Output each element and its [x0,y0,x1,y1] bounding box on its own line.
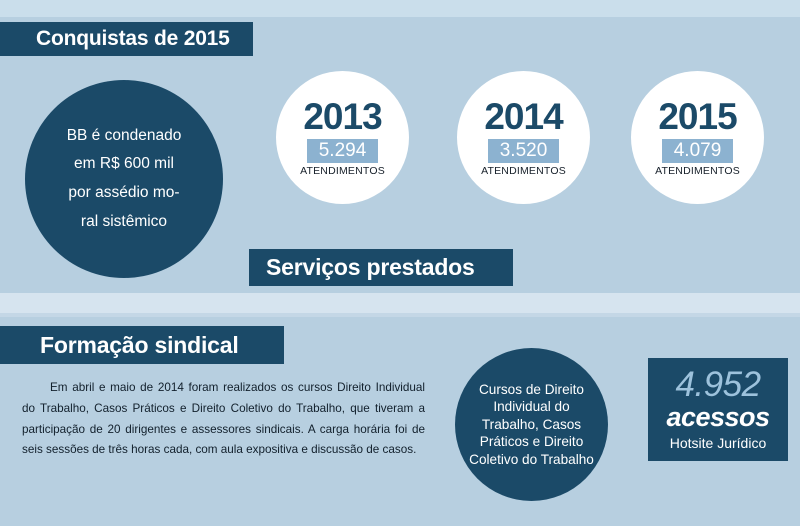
year-count-caption-2014: ATENDIMENTOS [481,165,566,177]
year-count-caption-2015: ATENDIMENTOS [655,165,740,177]
courses-circle-line-6: Trabalho [541,452,594,467]
background-band-middle-edge [0,313,800,317]
courses-circle-line-1: Cursos de Direito [479,382,584,397]
courses-circle-line-3: Trabalho, Casos [482,417,581,432]
section-title-servicos: Serviços prestados [249,249,513,286]
year-stat-circle-2013: 2013 5.294 ATENDIMENTOS [276,71,409,204]
courses-circle-line-2: Individual do [493,399,569,414]
section-title-formacao: Formação sindical [0,326,284,364]
highlight-circle-line-3: por assédio mo- [67,179,182,208]
year-count-2014: 3.520 [488,139,560,164]
year-stat-circle-2015: 2015 4.079 ATENDIMENTOS [631,71,764,204]
courses-circle-line-4: Práticos e Direito [480,434,584,449]
year-label-2013: 2013 [303,98,381,135]
highlight-circle-line-2: em R$ 600 mil [67,150,182,179]
formacao-paragraph: Em abril e maio de 2014 foram realizados… [22,378,425,461]
year-count-2013: 5.294 [307,139,379,164]
acessos-number: 4.952 [675,367,760,402]
courses-circle: Cursos de Direito Individual do Trabalho… [455,348,608,501]
acessos-stat-box: 4.952 acessos Hotsite Jurídico [648,358,788,461]
year-count-2015: 4.079 [662,139,734,164]
acessos-subtitle: Hotsite Jurídico [670,435,766,452]
background-band-top [0,0,800,17]
section-title-conquistas: Conquistas de 2015 [0,22,253,56]
background-band-middle [0,293,800,313]
courses-circle-line-5: Coletivo do [469,452,537,467]
infographic-page: Conquistas de 2015 BB é condenado em R$ … [0,0,800,526]
highlight-circle-bb: BB é condenado em R$ 600 mil por assédio… [25,80,223,278]
highlight-circle-line-4: ral sistêmico [67,208,182,237]
year-count-caption-2013: ATENDIMENTOS [300,165,385,177]
acessos-word: acessos [666,403,769,431]
year-label-2015: 2015 [658,98,736,135]
year-stat-circle-2014: 2014 3.520 ATENDIMENTOS [457,71,590,204]
highlight-circle-line-1: BB é condenado [67,122,182,151]
year-label-2014: 2014 [484,98,562,135]
